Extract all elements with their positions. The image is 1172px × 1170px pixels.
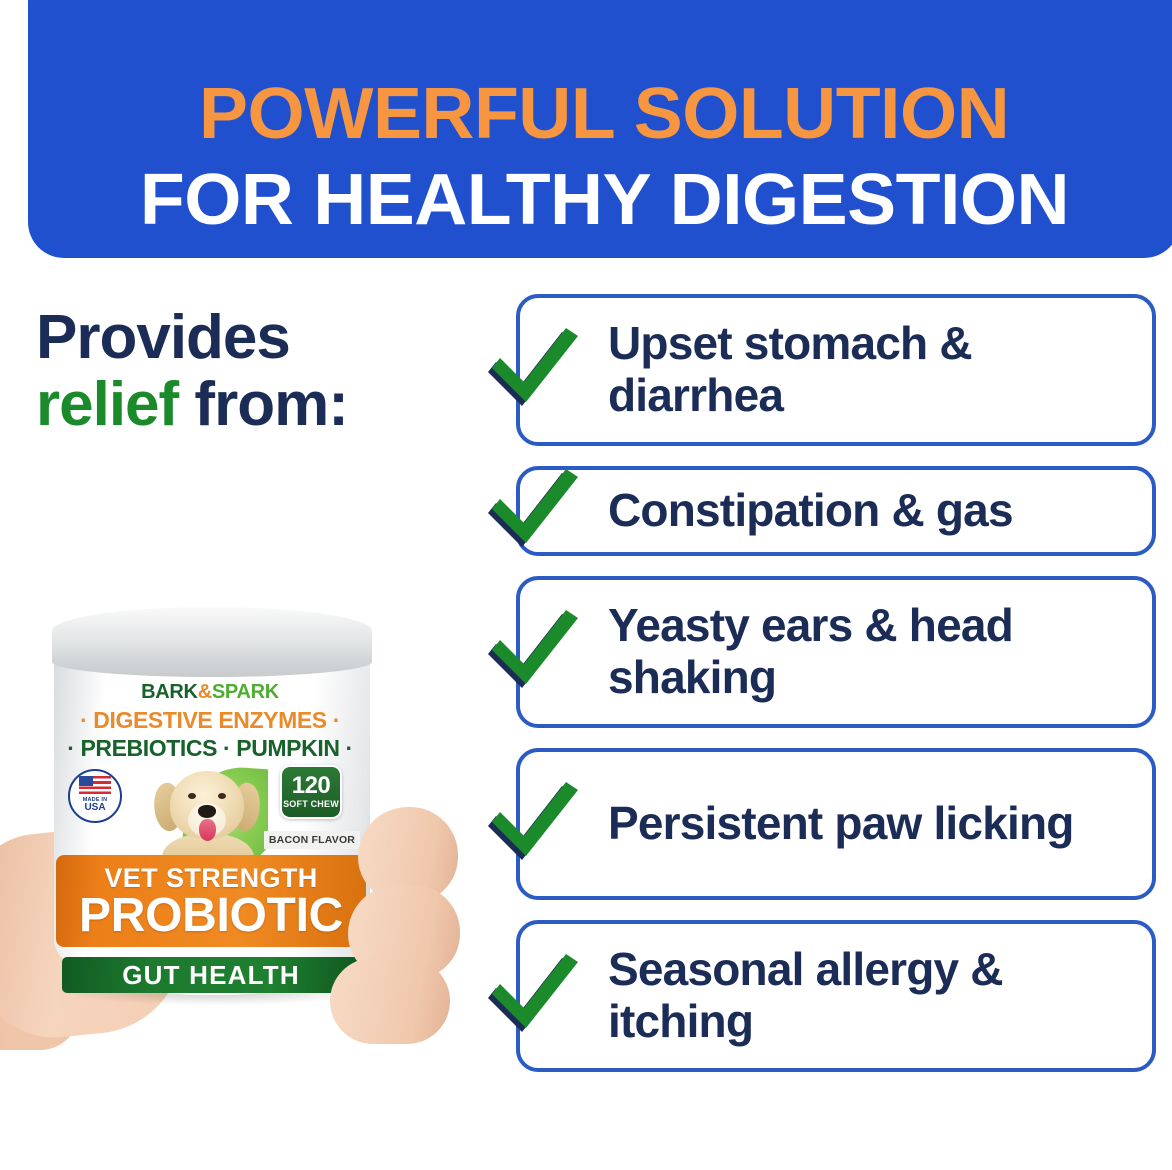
list-item[interactable]: Constipation & gas xyxy=(516,466,1156,556)
list-item[interactable]: Yeasty ears & head shaking xyxy=(516,576,1156,728)
heading-part-provides: Provides xyxy=(36,303,290,372)
brand-logo: BARK&SPARK xyxy=(52,681,368,704)
infographic-page: POWERFUL SOLUTION FOR HEALTHY DIGESTION … xyxy=(0,0,1172,1170)
headline-secondary: FOR HEALTHY DIGESTION xyxy=(139,164,1068,236)
benefit-label: Persistent paw licking xyxy=(608,798,1074,850)
benefit-label: Constipation & gas xyxy=(608,485,1013,537)
list-item[interactable]: Seasonal allergy & itching xyxy=(516,920,1156,1072)
benefit-box[interactable]: Seasonal allergy & itching xyxy=(516,920,1156,1072)
dog-nose xyxy=(198,805,216,818)
flavor-tag: BACON FLAVOR xyxy=(264,831,360,849)
count-number: 120 xyxy=(292,774,331,798)
benefit-label: Yeasty ears & head shaking xyxy=(608,600,1132,704)
dog-eye-right xyxy=(218,793,226,799)
count-badge: 120 SOFT CHEW xyxy=(280,765,342,819)
dog-eye-left xyxy=(188,793,196,799)
hand-finger-ring xyxy=(330,958,450,1044)
list-item[interactable]: Persistent paw licking xyxy=(516,748,1156,900)
benefit-box[interactable]: Yeasty ears & head shaking xyxy=(516,576,1156,728)
headline-primary: POWERFUL SOLUTION xyxy=(199,78,1009,150)
benefit-box[interactable]: Constipation & gas xyxy=(516,466,1156,556)
dog-tongue xyxy=(199,819,216,841)
usa-flag-icon xyxy=(79,776,111,795)
header-banner: POWERFUL SOLUTION FOR HEALTHY DIGESTION xyxy=(28,0,1172,258)
benefit-label: Upset stomach & diarrhea xyxy=(608,318,1132,422)
brand-spark: SPARK xyxy=(212,681,279,703)
usa-label: USA xyxy=(84,803,105,813)
jar-lid xyxy=(52,607,372,677)
page-title: Provides relief from: xyxy=(36,305,476,439)
probiotic-label: PROBIOTIC xyxy=(56,891,366,941)
ingredient-line-1: · DIGESTIVE ENZYMES · xyxy=(52,707,368,734)
gut-health-label: GUT HEALTH xyxy=(122,960,300,991)
heading-part-from: from: xyxy=(178,370,348,439)
benefit-box[interactable]: Persistent paw licking xyxy=(516,748,1156,900)
list-item[interactable]: Upset stomach & diarrhea xyxy=(516,294,1156,446)
product-jar: BARK&SPARK · DIGESTIVE ENZYMES · · PREBI… xyxy=(52,607,372,995)
brand-bark: BARK xyxy=(141,681,198,703)
benefit-label: Seasonal allergy & itching xyxy=(608,944,1132,1048)
brand-ampersand: & xyxy=(198,681,212,703)
benefit-box[interactable]: Upset stomach & diarrhea xyxy=(516,294,1156,446)
benefit-list: Upset stomach & diarrhea Constipation & … xyxy=(516,294,1156,1092)
gut-health-band: GUT HEALTH xyxy=(62,957,360,993)
vet-strength-band: VET STRENGTH PROBIOTIC xyxy=(56,855,366,947)
heading-part-relief: relief xyxy=(36,370,178,439)
count-unit: SOFT CHEW xyxy=(283,798,339,811)
made-in-usa-badge: MADE IN USA xyxy=(68,769,122,823)
product-photo: BARK&SPARK · DIGESTIVE ENZYMES · · PREBI… xyxy=(0,575,470,1095)
